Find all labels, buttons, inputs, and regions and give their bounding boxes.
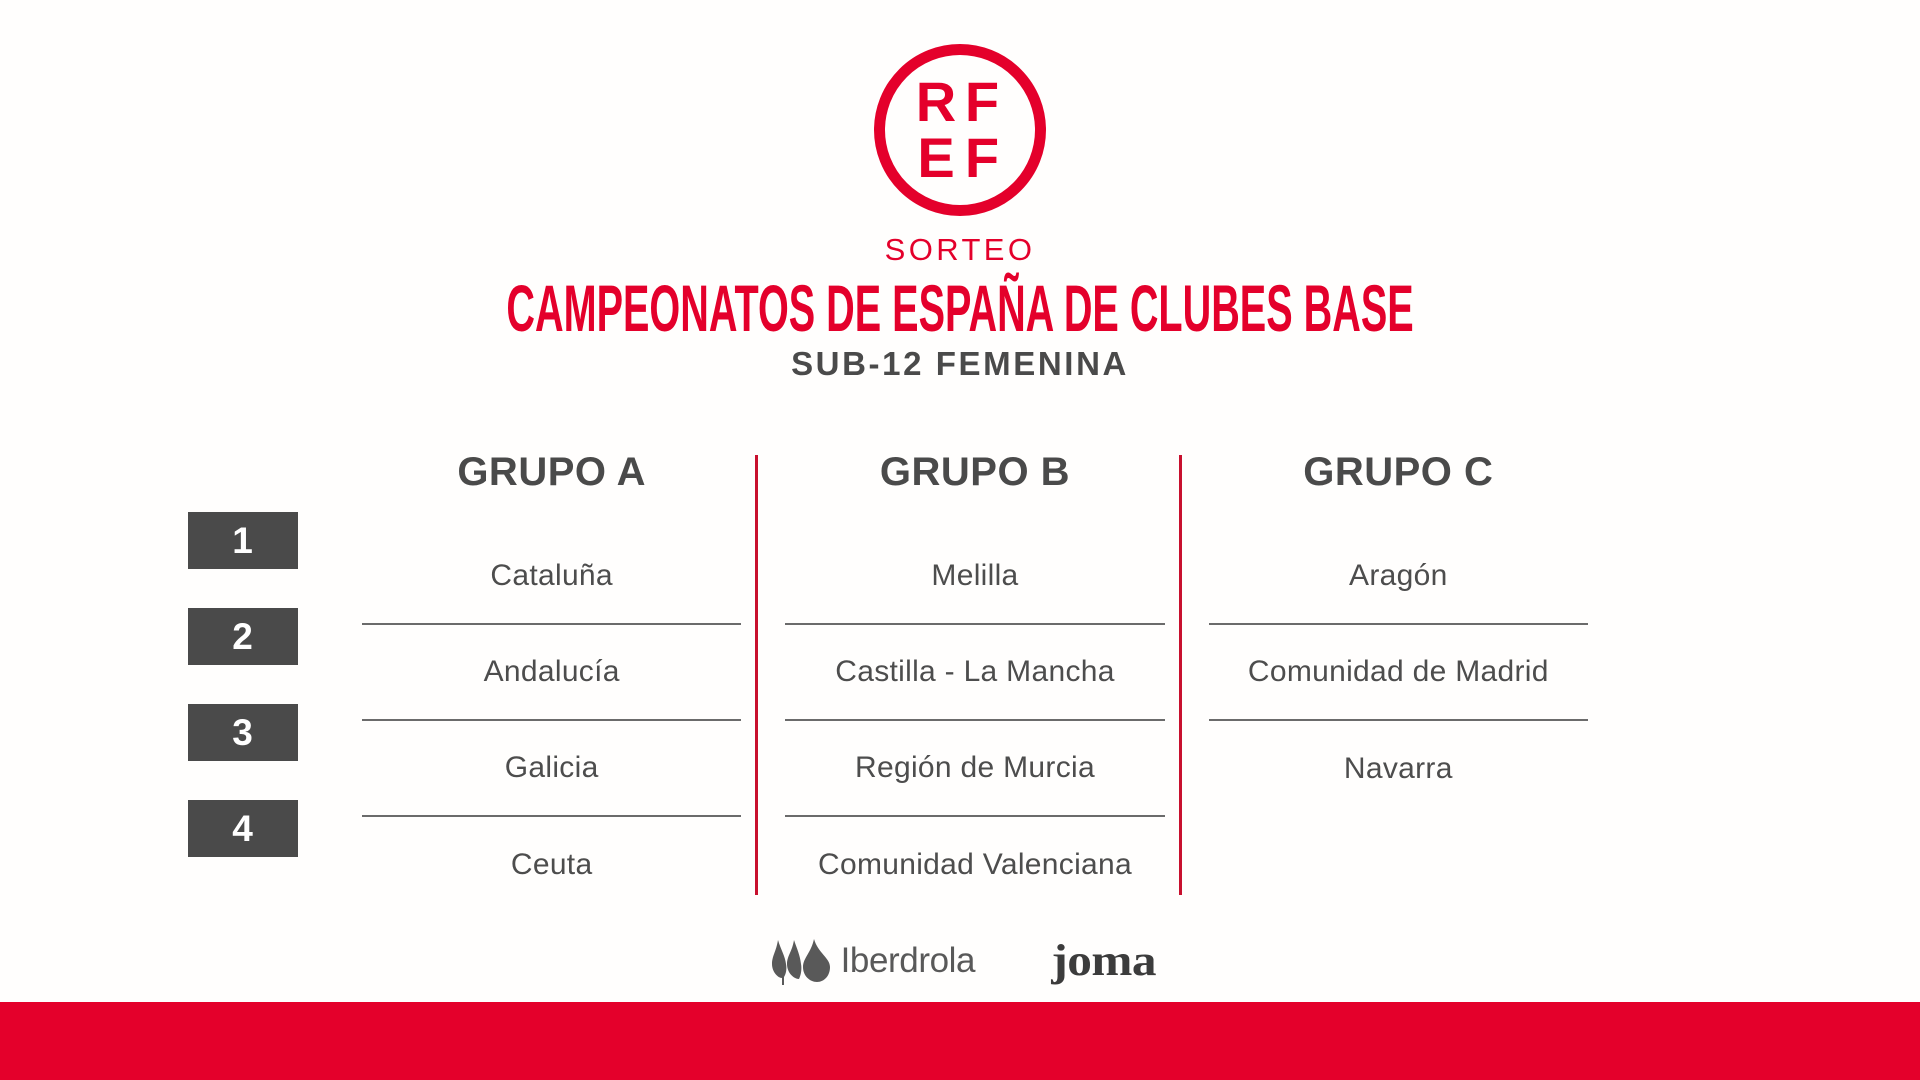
list-item: Galicia <box>362 721 741 817</box>
page-title: CAMPEONATOS DE ESPAÑA DE CLUBES BASE <box>506 274 1413 343</box>
list-item: Región de Murcia <box>785 721 1164 817</box>
group-a-team-list: Cataluña Andalucía Galicia Ceuta <box>362 529 741 913</box>
group-c: GRUPO C Aragón Comunidad de Madrid Navar… <box>1187 450 1610 913</box>
footer-red-bar <box>0 1002 1920 1080</box>
group-b: GRUPO B Melilla Castilla - La Mancha Reg… <box>763 450 1186 913</box>
list-item: Andalucía <box>362 625 741 721</box>
sponsor-row: Iberdrola joma <box>0 935 1920 986</box>
rfef-letter-f2: F <box>960 131 1006 185</box>
list-item-empty <box>1209 817 1588 913</box>
rank-badge: 2 <box>188 608 298 665</box>
rank-badge: 1 <box>188 512 298 569</box>
sponsor-joma: joma <box>1052 935 1157 986</box>
rfef-letter-e: E <box>914 131 960 185</box>
groups-container: GRUPO A Cataluña Andalucía Galicia Ceuta… <box>340 450 1610 913</box>
draw-board: 1 2 3 4 GRUPO A Cataluña Andalucía Galic… <box>0 450 1920 910</box>
group-a: GRUPO A Cataluña Andalucía Galicia Ceuta <box>340 450 763 913</box>
rank-badge: 3 <box>188 704 298 761</box>
list-item: Melilla <box>785 529 1164 625</box>
rank-column: 1 2 3 4 <box>188 512 298 896</box>
group-a-title: GRUPO A <box>362 450 741 495</box>
rfef-letter-r: R <box>914 75 960 129</box>
list-item: Aragón <box>1209 529 1588 625</box>
list-item: Comunidad Valenciana <box>785 817 1164 913</box>
kicker-sorteo: SORTEO <box>885 232 1036 268</box>
iberdrola-flame-icon <box>770 936 832 986</box>
list-item: Comunidad de Madrid <box>1209 625 1588 721</box>
group-b-title: GRUPO B <box>785 450 1164 495</box>
page-subtitle: SUB-12 FEMENINA <box>791 345 1129 383</box>
group-b-team-list: Melilla Castilla - La Mancha Región de M… <box>785 529 1164 913</box>
list-item: Ceuta <box>362 817 741 913</box>
rfef-logo: RF EF <box>874 44 1046 216</box>
list-item: Castilla - La Mancha <box>785 625 1164 721</box>
rfef-logo-line-1: RF <box>914 75 1006 129</box>
group-c-title: GRUPO C <box>1209 450 1588 495</box>
list-item: Cataluña <box>362 529 741 625</box>
rank-badge: 4 <box>188 800 298 857</box>
group-c-team-list: Aragón Comunidad de Madrid Navarra <box>1209 529 1588 913</box>
list-item: Navarra <box>1209 721 1588 817</box>
sponsor-iberdrola: Iberdrola <box>770 936 976 986</box>
iberdrola-wordmark: Iberdrola <box>841 941 976 981</box>
rfef-letter-f1: F <box>960 75 1006 129</box>
rfef-logo-line-2: EF <box>914 131 1006 185</box>
header-block: RF EF SORTEO CAMPEONATOS DE ESPAÑA DE CL… <box>0 44 1920 383</box>
